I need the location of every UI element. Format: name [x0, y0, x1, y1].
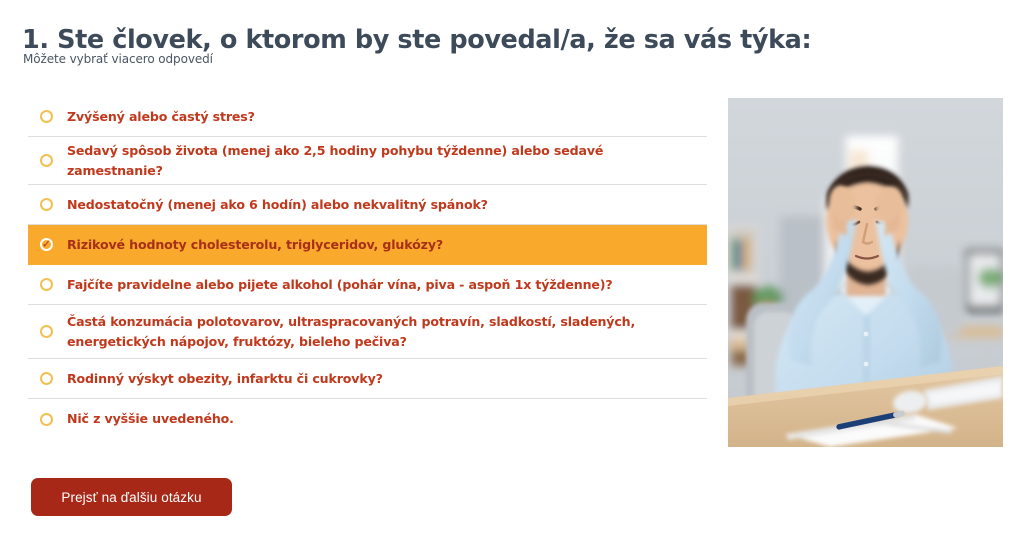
option-row-8[interactable]: ✓ Nič z vyššie uvedeného. — [28, 399, 707, 439]
option-row-6[interactable]: ✓ Častá konzumácia polotovarov, ultraspr… — [28, 305, 707, 359]
radio-empty-icon[interactable]: ✓ — [40, 278, 53, 291]
option-row-2[interactable]: ✓ Sedavý spôsob života (menej ako 2,5 ho… — [28, 137, 707, 185]
option-row-7[interactable]: ✓ Rodinný výskyt obezity, infarktu či cu… — [28, 359, 707, 399]
radio-empty-icon[interactable]: ✓ — [40, 413, 53, 426]
radio-empty-icon[interactable]: ✓ — [40, 325, 53, 338]
quiz-page: 1. Ste človek, o ktorom by ste povedal/a… — [0, 0, 1024, 533]
option-row-4-selected[interactable]: ✓ Rizikové hodnoty cholesterolu, triglyc… — [28, 225, 707, 265]
option-label: Zvýšený alebo častý stres? — [67, 107, 255, 127]
stressed-man-at-desk-image — [728, 98, 1003, 447]
option-row-3[interactable]: ✓ Nedostatočný (menej ako 6 hodín) alebo… — [28, 185, 707, 225]
option-label: Nedostatočný (menej ako 6 hodín) alebo n… — [67, 195, 488, 215]
option-row-5[interactable]: ✓ Fajčíte pravidelne alebo pijete alkoho… — [28, 265, 707, 305]
radio-empty-icon[interactable]: ✓ — [40, 110, 53, 123]
option-label: Častá konzumácia polotovarov, ultrasprac… — [67, 312, 697, 351]
option-label: Rodinný výskyt obezity, infarktu či cukr… — [67, 369, 383, 389]
option-row-1[interactable]: ✓ Zvýšený alebo častý stres? — [28, 97, 707, 137]
option-label: Fajčíte pravidelne alebo pijete alkohol … — [67, 275, 613, 295]
radio-checked-icon[interactable]: ✓ — [40, 238, 53, 251]
check-icon: ✓ — [42, 239, 51, 250]
answer-options-list: ✓ Zvýšený alebo častý stres? ✓ Sedavý sp… — [28, 97, 707, 439]
radio-empty-icon[interactable]: ✓ — [40, 154, 53, 167]
illustration-photo — [728, 98, 1003, 447]
radio-empty-icon[interactable]: ✓ — [40, 372, 53, 385]
option-label: Nič z vyššie uvedeného. — [67, 409, 234, 429]
option-label: Sedavý spôsob života (menej ako 2,5 hodi… — [67, 141, 697, 180]
next-question-button[interactable]: Prejsť na ďalšiu otázku — [31, 478, 232, 516]
option-label: Rizikové hodnoty cholesterolu, triglycer… — [67, 235, 443, 255]
question-subtitle: Môžete vybrať viacero odpovedí — [23, 52, 213, 66]
radio-empty-icon[interactable]: ✓ — [40, 198, 53, 211]
